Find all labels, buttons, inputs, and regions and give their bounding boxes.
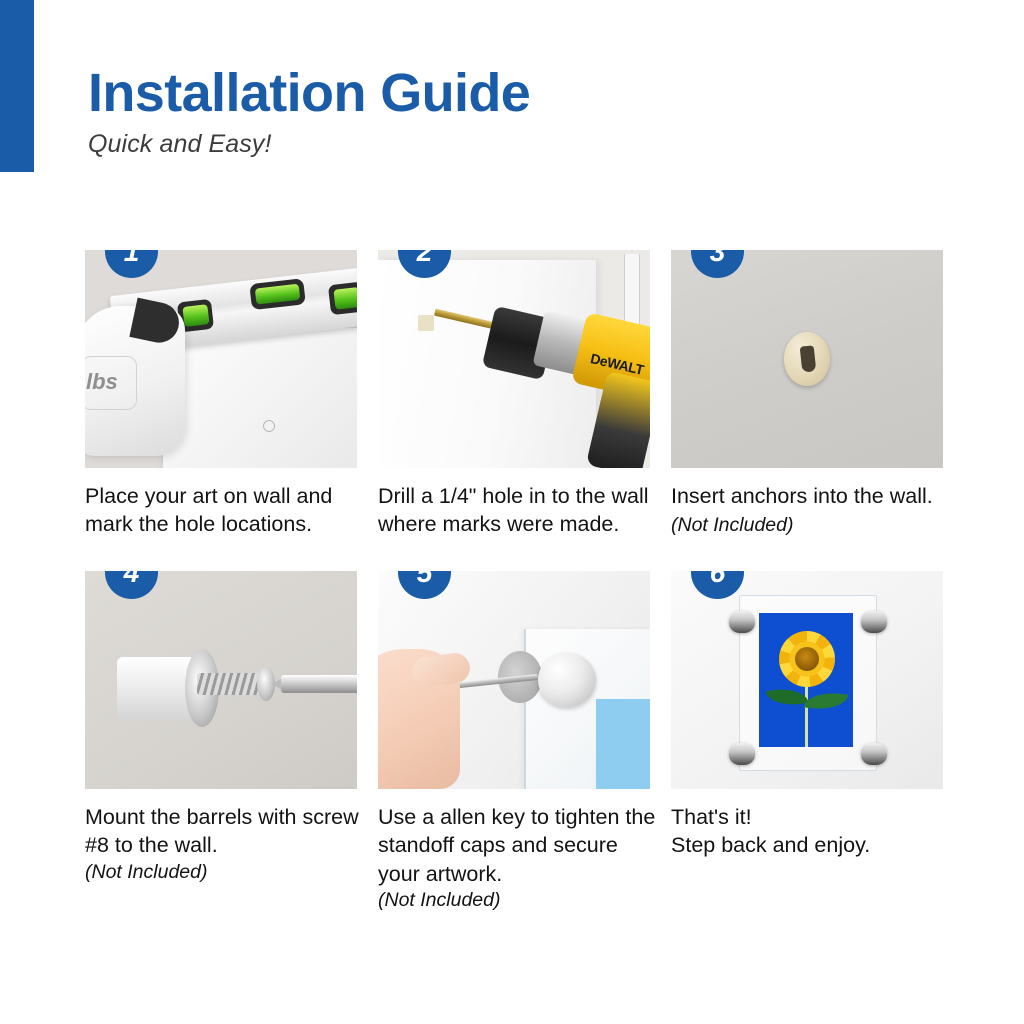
step-card-1: lbs 1 Place your art on wall and mark th… (85, 250, 357, 539)
step-caption-text-1: Place your art on wall and mark the hole… (85, 484, 332, 536)
step-caption-text-3: Insert anchors into the wall. (671, 484, 933, 508)
step-caption-text-6: That's it! Step back and enjoy. (671, 805, 870, 857)
standoff-bottom-right (861, 743, 887, 765)
step-card-3: 3 Insert anchors into the wall. (Not Inc… (671, 250, 943, 539)
page-header: Installation Guide Quick and Easy! (0, 0, 1024, 200)
step-caption-text-2: Drill a 1/4" hole in to the wall where m… (378, 484, 649, 536)
step-card-4: 4 Mount the barrels with screw #8 to the… (85, 571, 357, 914)
page-title: Installation Guide (88, 66, 530, 120)
standoff-top-right (861, 611, 887, 633)
allen-key-standoff-illustration (378, 571, 650, 789)
step-caption-5: Use a allen key to tighten the standoff … (378, 803, 658, 914)
step-note-4: (Not Included) (85, 860, 365, 886)
step-caption-4: Mount the barrels with screw #8 to the w… (85, 803, 365, 885)
step-card-5: 5 Use a allen key to tighten the standof… (378, 571, 650, 914)
step-image-4: 4 (85, 571, 357, 789)
step-caption-3: Insert anchors into the wall. (Not Inclu… (671, 482, 951, 539)
wall-anchor-illustration (671, 250, 943, 468)
step-caption-6: That's it! Step back and enjoy. (671, 803, 951, 860)
header-accent-bar (0, 0, 34, 172)
sunflower-artwork (759, 613, 853, 747)
step-note-5: (Not Included) (378, 888, 658, 914)
step-card-6: 6 That's it! Step back and enjoy. (671, 571, 943, 914)
page-subtitle: Quick and Easy! (88, 130, 530, 159)
header-text-group: Installation Guide Quick and Easy! (88, 66, 530, 159)
step-caption-text-4: Mount the barrels with screw #8 to the w… (85, 805, 359, 857)
step-image-2: DeWALT 2 (378, 250, 650, 468)
standoff-bottom-left (729, 743, 755, 765)
level-on-wall-illustration: lbs (85, 250, 357, 468)
step-image-3: 3 (671, 250, 943, 468)
step-caption-text-5: Use a allen key to tighten the standoff … (378, 805, 655, 886)
step-caption-2: Drill a 1/4" hole in to the wall where m… (378, 482, 658, 539)
step-image-1: lbs 1 (85, 250, 357, 468)
step-caption-1: Place your art on wall and mark the hole… (85, 482, 365, 539)
step-note-3: (Not Included) (671, 514, 793, 536)
installation-steps-grid: lbs 1 Place your art on wall and mark th… (85, 250, 943, 914)
finished-mounted-frame-illustration (671, 571, 943, 789)
step-image-5: 5 (378, 571, 650, 789)
barrel-screw-screwdriver-illustration (85, 571, 357, 789)
drill-illustration: DeWALT (378, 250, 650, 468)
step-image-6: 6 (671, 571, 943, 789)
standoff-top-left (729, 611, 755, 633)
step-card-2: DeWALT 2 Drill a 1/4" hole in to the wal… (378, 250, 650, 539)
